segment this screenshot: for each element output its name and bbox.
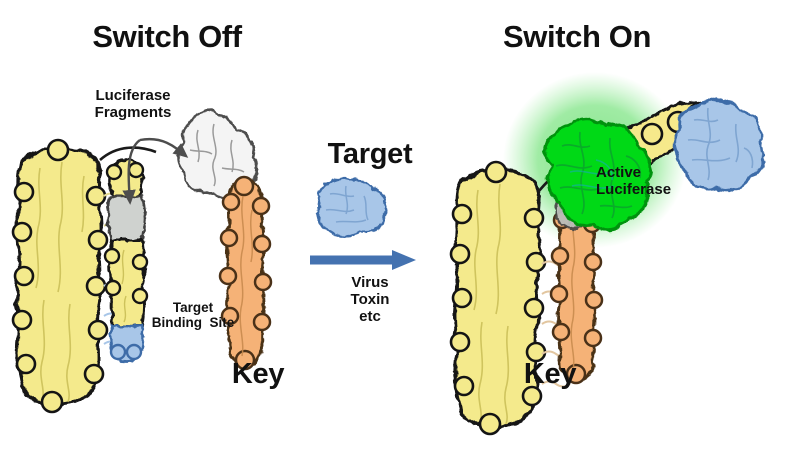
label-virus-toxin-etc: Virus Toxin etc (310, 275, 430, 325)
label-key-left: Key (198, 358, 318, 390)
diagram-canvas (0, 0, 800, 450)
label-target-binding-site: Target Binding Site (138, 300, 248, 330)
label-key-right: Key (490, 358, 610, 390)
center-transition-graphic (310, 179, 416, 270)
figure-root: Switch Off Switch On Luciferase Fragment… (0, 0, 800, 450)
thin-helix-left (105, 159, 147, 361)
label-active-luciferase: Active Luciferase (596, 165, 708, 199)
panel-title-switch-off: Switch Off (42, 20, 292, 55)
label-luciferase-fragments: Luciferase Fragments (68, 88, 198, 122)
transition-arrow (310, 250, 416, 270)
grey-fragment-segment-left (108, 196, 145, 240)
orange-key-helix-left (220, 177, 271, 369)
panel-title-switch-on: Switch On (452, 20, 702, 55)
label-target: Target (310, 138, 430, 170)
blue-target-molecule (317, 179, 386, 237)
